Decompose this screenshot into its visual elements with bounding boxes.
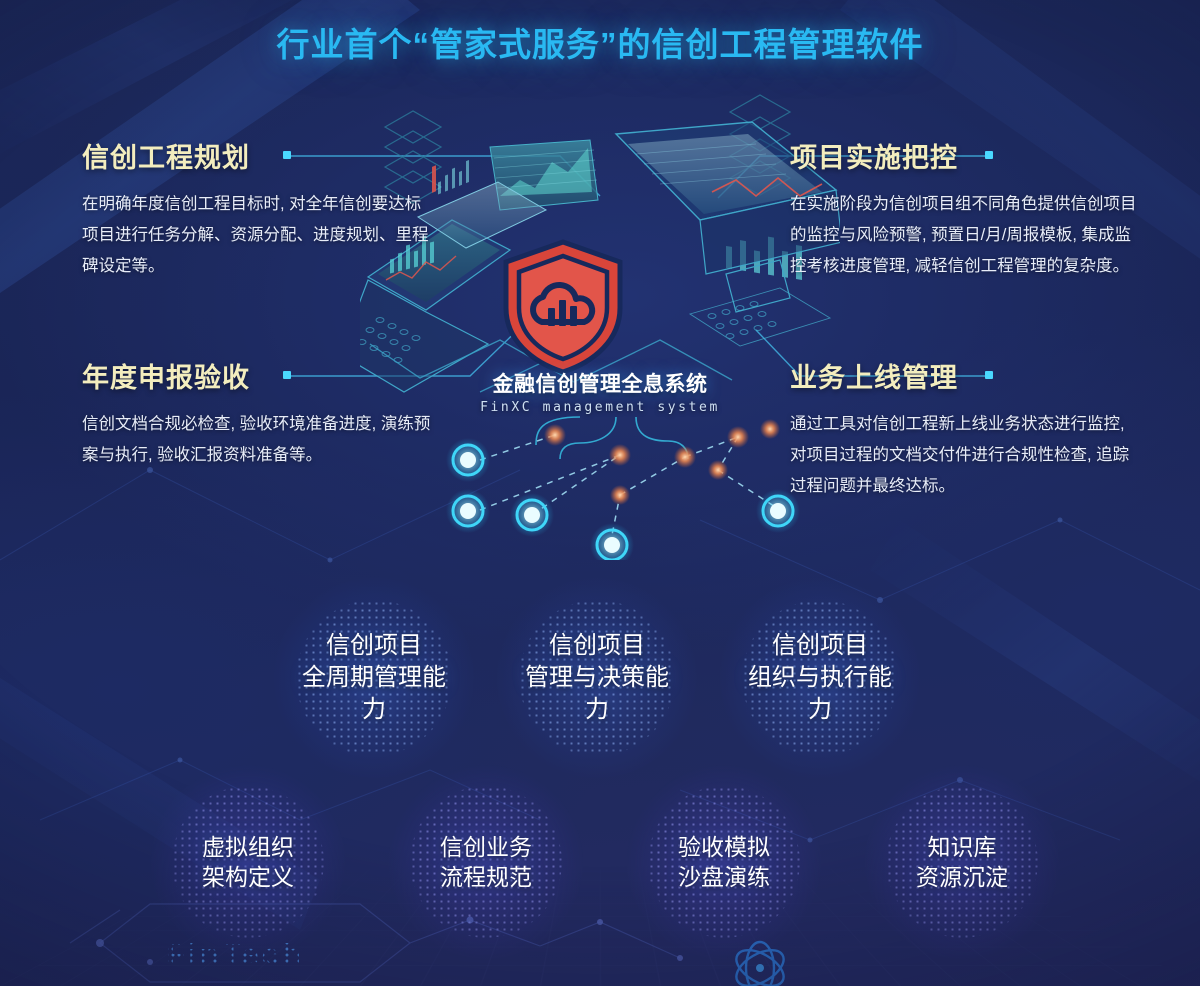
vignette-overlay [0,0,1200,986]
sphere-label: 信创项目组织与执行能力 [742,630,898,725]
sphere-label: 知识库资源沉淀 [916,832,1008,893]
sphere-label: 信创业务流程规范 [440,832,532,893]
sphere-label: 虚拟组织架构定义 [202,832,294,893]
sphere-label: 信创项目全周期管理能力 [296,630,452,725]
sphere-label: 验收模拟沙盘演练 [678,832,770,893]
infographic-canvas: 行业首个“管家式服务”的信创工程管理软件 [0,0,1200,986]
sphere-label: 信创项目管理与决策能力 [519,630,675,725]
